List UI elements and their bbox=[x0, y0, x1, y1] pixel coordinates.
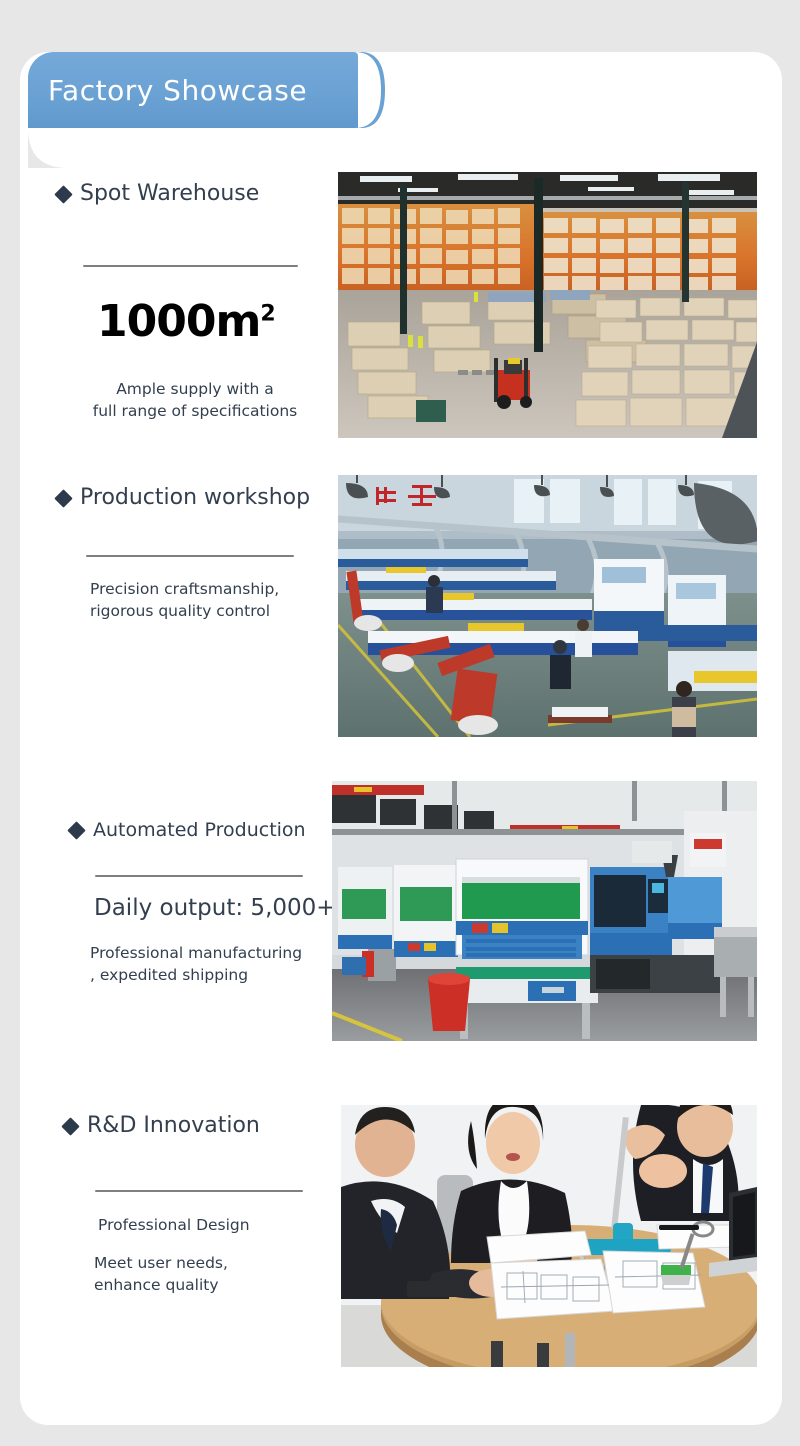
description-line-1: Professional manufacturing bbox=[90, 942, 330, 964]
stat-daily-output: Daily output: 5,000+ bbox=[94, 895, 336, 921]
rd-innovation-photo bbox=[341, 1105, 757, 1367]
page-title: Factory Showcase bbox=[28, 74, 307, 107]
section-description-2: Precision craftsmanship, rigorous qualit… bbox=[90, 578, 320, 623]
section-heading-label: R&D Innovation bbox=[87, 1115, 260, 1137]
factory-showcase-page: Factory Showcase Spot Warehouse 1000m2 A… bbox=[0, 0, 800, 1446]
section-divider-3 bbox=[95, 875, 303, 877]
diamond-bullet-icon bbox=[61, 1117, 79, 1135]
stat-value: 1000m bbox=[97, 296, 260, 347]
description-line-2: , expedited shipping bbox=[90, 964, 330, 986]
diamond-bullet-icon bbox=[54, 185, 72, 203]
section-heading-label: Spot Warehouse bbox=[80, 183, 259, 205]
section-divider-4 bbox=[95, 1190, 303, 1192]
section-divider-1 bbox=[83, 265, 298, 267]
description-line-1: Precision craftsmanship, bbox=[90, 578, 320, 600]
description-line-1: Ample supply with a bbox=[70, 378, 320, 400]
stat-superscript: 2 bbox=[260, 301, 275, 326]
section-description-3: Professional manufacturing , expedited s… bbox=[90, 942, 330, 987]
description-line-2: full range of specifications bbox=[70, 400, 320, 422]
section-heading-1: Spot Warehouse bbox=[57, 183, 307, 205]
section-heading-label: Production workshop bbox=[80, 487, 310, 509]
description-line-3: enhance quality bbox=[94, 1274, 324, 1296]
diamond-bullet-icon bbox=[54, 489, 72, 507]
section-description-1: Ample supply with a full range of specif… bbox=[70, 378, 320, 423]
section-heading-label: Automated Production bbox=[93, 821, 306, 840]
section-description-4a: Professional Design bbox=[98, 1214, 328, 1236]
section-heading-3: Automated Production bbox=[70, 821, 330, 840]
section-heading-4: R&D Innovation bbox=[64, 1115, 324, 1137]
description-line-2: Meet user needs, bbox=[94, 1252, 324, 1274]
spot-warehouse-photo bbox=[338, 172, 757, 438]
diamond-bullet-icon bbox=[67, 821, 85, 839]
section-divider-2 bbox=[86, 555, 294, 557]
tab-curve bbox=[355, 52, 401, 128]
description-line-2: rigorous quality control bbox=[90, 600, 320, 622]
stat-spot-warehouse: 1000m2 bbox=[97, 300, 276, 344]
automated-production-photo bbox=[332, 781, 757, 1041]
section-heading-2: Production workshop bbox=[57, 487, 317, 509]
production-workshop-photo bbox=[338, 475, 757, 737]
tab-notch bbox=[28, 128, 68, 168]
description-line-1: Professional Design bbox=[98, 1214, 328, 1236]
section-description-4b: Meet user needs, enhance quality bbox=[94, 1252, 324, 1297]
header-tab: Factory Showcase bbox=[28, 52, 358, 128]
